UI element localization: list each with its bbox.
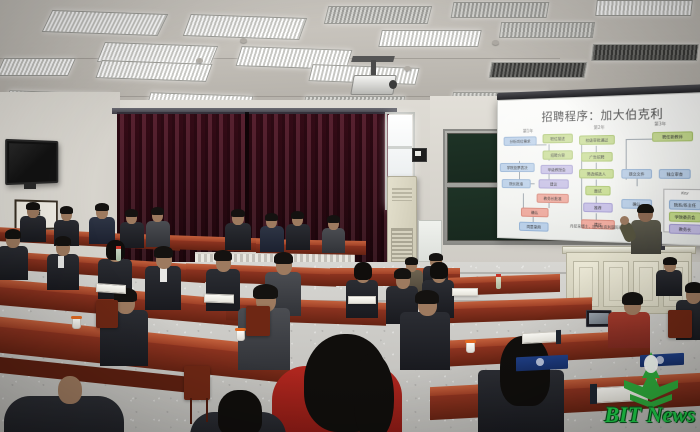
flow-node: 聘任新教师: [652, 131, 693, 142]
paper-cup: [466, 342, 475, 353]
flow-node: 分析岗位需求: [504, 136, 537, 146]
ceiling-lamp: [591, 44, 699, 61]
water-bottle: [496, 276, 501, 289]
flow-node: 独立审查: [659, 169, 691, 179]
paper-cup: [236, 330, 245, 341]
cup-lid-icon: [71, 316, 82, 319]
ceiling-lamp: [42, 10, 169, 36]
window-mullion: [388, 146, 412, 149]
water-bottle: [116, 248, 121, 261]
flow-node: 院长批准: [502, 179, 531, 188]
flow-node: 招聘方案: [543, 150, 573, 160]
flow-node: 面试: [585, 186, 610, 196]
flow-node: 推荐: [583, 203, 613, 213]
lecture-hall-photo: 德馨 招聘程序：加大伯克利 第1年 第2年 第3年: [0, 0, 700, 432]
cup-lid-icon: [235, 328, 246, 331]
notebook-spine: [556, 330, 561, 344]
watermark-text: BIT News: [604, 402, 696, 428]
projection-screen: 招聘程序：加大伯克利 第1年 第2年 第3年 分析岗位需求 职位描述 招聘方案 …: [497, 92, 700, 247]
chair-leg: [190, 398, 192, 424]
legend-item: 院系/系主任: [669, 200, 700, 211]
ceiling-smoke-detector: [196, 58, 203, 63]
flow-node: 建议: [539, 179, 569, 189]
tv-wall-mount: [24, 183, 36, 189]
ceiling-smoke-detector: [492, 40, 499, 45]
ceiling-lamp: [489, 62, 588, 78]
ceiling-lamp: [451, 2, 550, 18]
chair[interactable]: [246, 306, 270, 336]
flow-node: 广告招聘: [581, 152, 613, 162]
slide-year-label-2: 第2年: [594, 124, 605, 131]
ceiling-smoke-detector: [404, 66, 411, 71]
open-notebook: [204, 293, 234, 303]
ceiling-lamp: [499, 22, 595, 38]
slide-year-label-1: 第1年: [523, 128, 533, 134]
notebook-spine: [590, 384, 597, 404]
chair[interactable]: [668, 310, 692, 338]
ac-vent-icon: [392, 188, 412, 201]
projector-lens-icon: [389, 80, 397, 89]
open-notebook: [348, 296, 376, 304]
wall-mounted-tv: [5, 139, 58, 185]
flow-node: 教务长批准: [537, 194, 569, 204]
flow-node: 学院投票表决: [500, 163, 535, 172]
ceiling-lamp: [378, 30, 482, 47]
ceiling-lamp: [183, 14, 308, 40]
ceiling-lamp: [0, 58, 76, 76]
open-notebook: [522, 331, 560, 344]
chair-leg: [206, 398, 208, 422]
flow-node: 筛选候选人: [579, 169, 614, 179]
bottle-cap-icon: [116, 246, 121, 249]
chair[interactable]: [184, 366, 210, 400]
flow-connector: [523, 193, 524, 207]
flow-node: 确认: [521, 208, 549, 218]
flow-node: 校级审批通过: [579, 135, 615, 145]
projected-slide: 招聘程序：加大伯克利 第1年 第2年 第3年 分析岗位需求 职位描述 招聘方案 …: [497, 92, 700, 247]
slide-title: 招聘程序：加大伯克利: [498, 103, 700, 126]
chair[interactable]: [96, 300, 118, 328]
open-notebook: [452, 288, 478, 296]
folder-emblem-icon: [536, 358, 544, 366]
presenter-hand: [620, 216, 629, 225]
bottle-cap-icon: [496, 274, 501, 277]
cup-lid-icon: [465, 340, 476, 343]
flow-node: 提交文件: [621, 169, 652, 179]
watermark: BIT News: [604, 352, 696, 430]
slide-year-label-3: 第3年: [654, 121, 666, 128]
ceiling-lamp: [595, 0, 693, 16]
flow-node: 甲级教授会: [541, 165, 573, 174]
flow-connector: [637, 178, 638, 187]
flow-node: 职位描述: [543, 134, 573, 144]
legend-item: 学院委员会: [669, 212, 700, 223]
ceiling-lamp: [324, 6, 432, 24]
ceiling-lamp: [95, 60, 212, 82]
paper-cup: [72, 318, 81, 329]
wall-device-indicator-icon: [415, 151, 421, 156]
presenter-hair: [637, 204, 654, 213]
legend-title: Key: [664, 191, 700, 196]
ceiling-smoke-detector: [240, 38, 247, 43]
